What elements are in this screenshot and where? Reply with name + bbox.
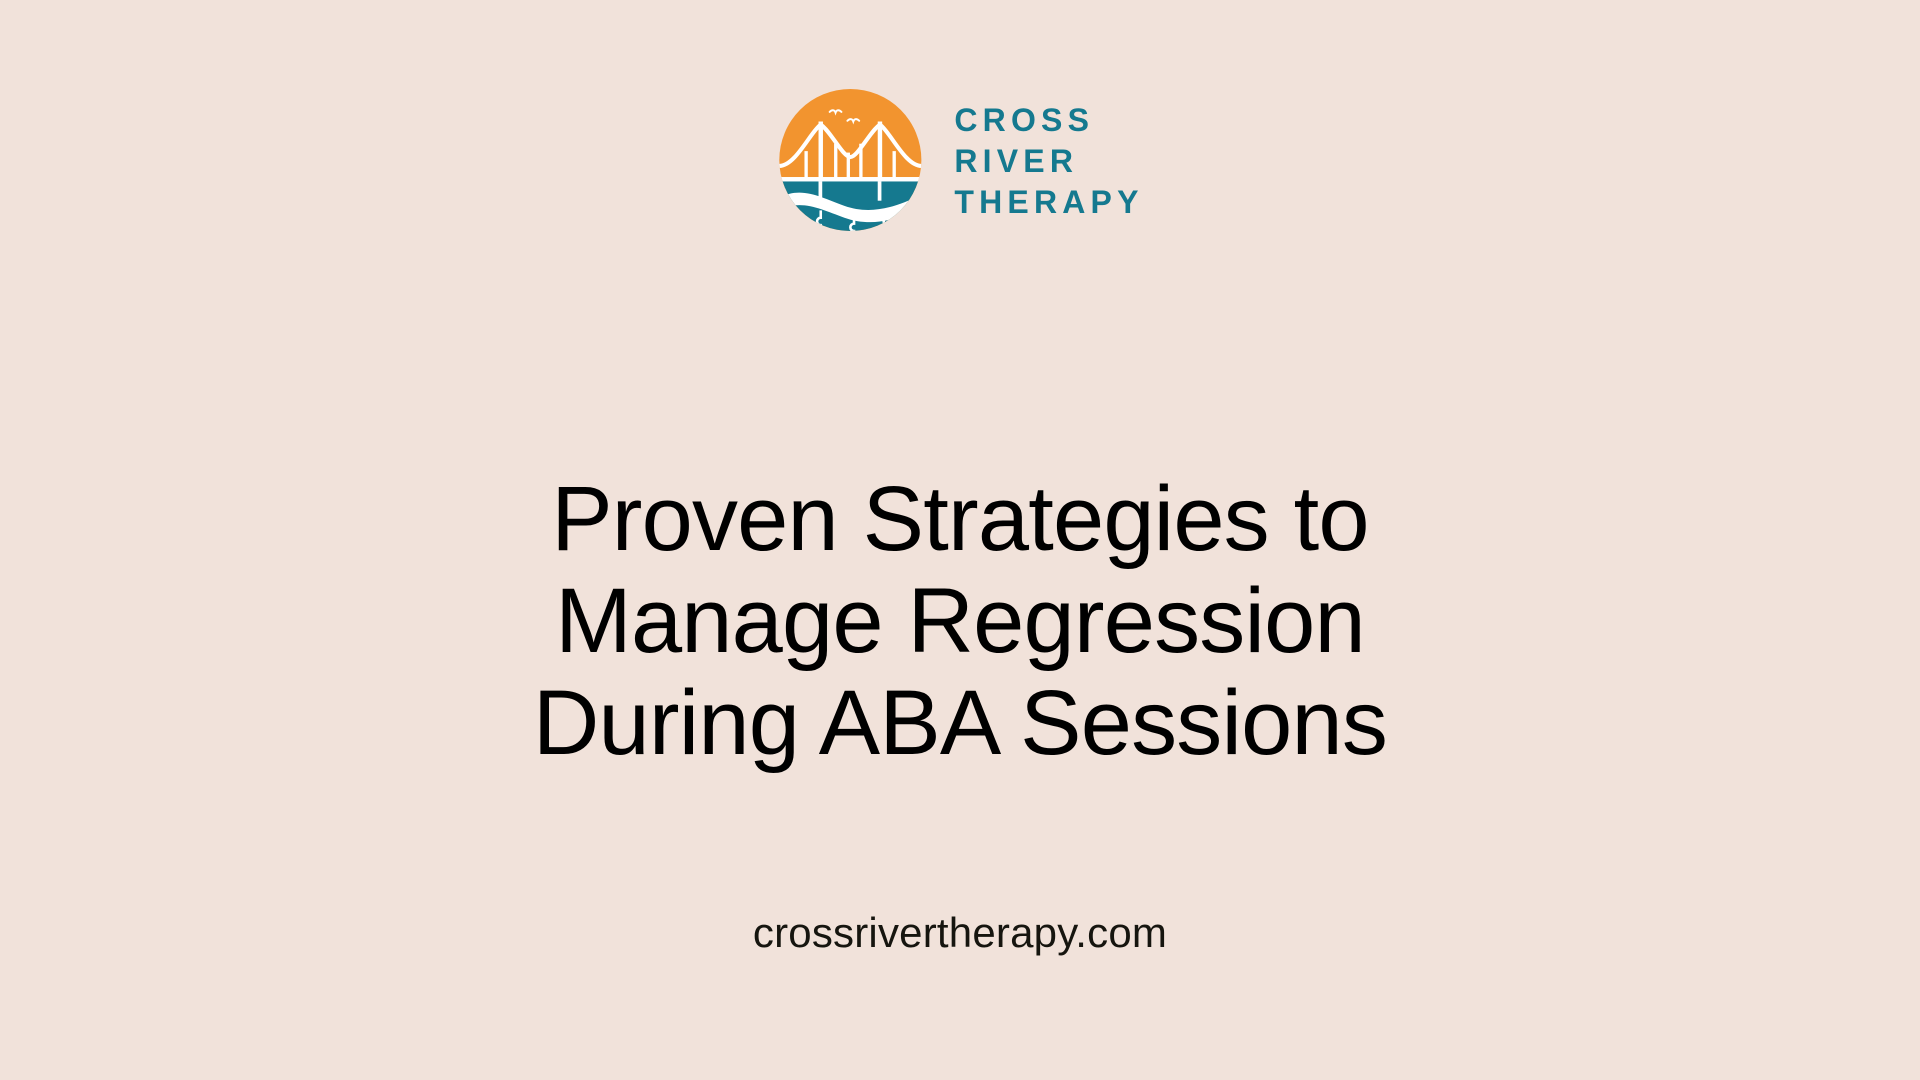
website-url[interactable]: crossrivertherapy.com	[753, 912, 1167, 954]
page-title-line-3: During ABA Sessions	[310, 672, 1610, 774]
brand-logo-lockup: CROSS RIVER THERAPY	[776, 86, 1143, 234]
page-title-line-2: Manage Regression	[310, 570, 1610, 672]
slide-canvas: CROSS RIVER THERAPY Proven Strategies to…	[0, 0, 1920, 1080]
brand-wordmark: CROSS RIVER THERAPY	[954, 102, 1143, 218]
wordmark-line-therapy: THERAPY	[954, 186, 1143, 218]
wordmark-line-cross: CROSS	[954, 104, 1143, 136]
page-title-line-1: Proven Strategies to	[310, 468, 1610, 570]
cross-river-therapy-bridge-logo-icon	[776, 86, 924, 234]
page-title: Proven Strategies to Manage Regression D…	[310, 468, 1610, 774]
wordmark-line-river: RIVER	[954, 145, 1143, 177]
